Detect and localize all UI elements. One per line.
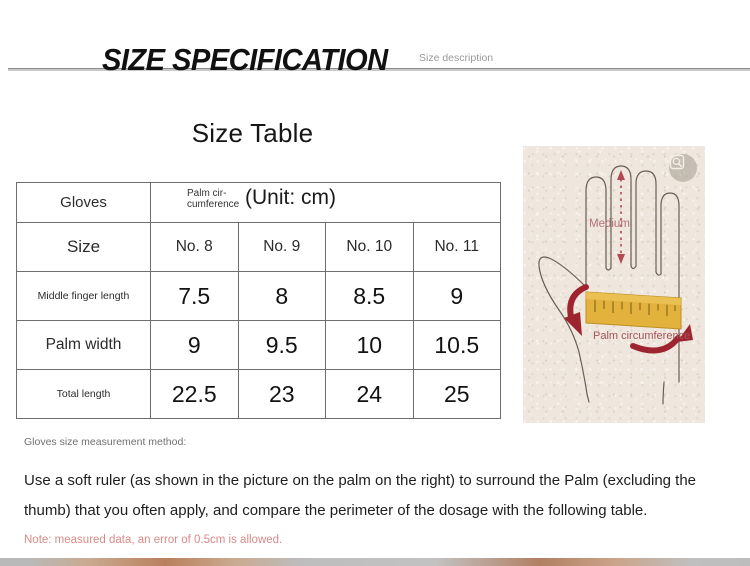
- header-cell-gloves: Gloves: [17, 183, 151, 223]
- cell-palm-width-11: 10.5: [413, 321, 501, 370]
- magnifier-glyph: [669, 154, 685, 170]
- banner-title: SIZE SPECIFICATION: [102, 44, 388, 75]
- cell-palm-width-10: 10: [326, 321, 414, 370]
- cell-middle-finger-8: 7.5: [151, 272, 239, 321]
- cell-size-11: No. 11: [413, 223, 501, 272]
- table-header-row: Gloves Palm cir-cumference (Unit: cm): [17, 183, 501, 223]
- magnifier-icon[interactable]: [669, 154, 697, 182]
- cell-middle-finger-11: 9: [413, 272, 501, 321]
- measurement-method-heading: Gloves size measurement method:: [24, 436, 254, 449]
- measurement-instructions: Use a soft ruler (as shown in the pictur…: [24, 466, 724, 526]
- palm-circumference-figure-label: Palm circumference: [593, 330, 690, 342]
- arrow-down-head: [617, 254, 625, 264]
- table-row: Size No. 8 No. 9 No. 10 No. 11: [17, 223, 501, 272]
- cell-middle-finger-9: 8: [238, 272, 326, 321]
- next-image-strip: [0, 558, 750, 566]
- hand-measurement-illustration[interactable]: Medium Palm circumference: [523, 146, 705, 423]
- cell-total-length-8: 22.5: [151, 370, 239, 419]
- arrow-up-head: [617, 170, 625, 180]
- cell-total-length-10: 24: [326, 370, 414, 419]
- table-row: Total length 22.5 23 24 25: [17, 370, 501, 419]
- unit-note-label: (Unit: cm): [245, 186, 336, 210]
- arrow-left-head: [564, 312, 582, 336]
- tolerance-note: Note: measured data, an error of 0.5cm i…: [24, 534, 282, 546]
- page-banner: Size description SIZE SPECIFICATION: [0, 22, 750, 70]
- hand-diagram-svg: Medium Palm circumference: [523, 146, 705, 423]
- cell-size-8: No. 8: [151, 223, 239, 272]
- header-cell-palm-circumference: Palm cir-cumference (Unit: cm): [151, 183, 501, 223]
- row-label-middle-finger-length: Middle finger length: [17, 272, 151, 321]
- row-label-total-length: Total length: [17, 370, 151, 419]
- cell-size-9: No. 9: [238, 223, 326, 272]
- cell-total-length-11: 25: [413, 370, 501, 419]
- row-label-palm-width: Palm width: [17, 321, 151, 370]
- page-title: Size Table: [0, 118, 505, 149]
- ruler-band: [586, 292, 681, 329]
- size-table: Gloves Palm cir-cumference (Unit: cm) Si…: [16, 182, 501, 419]
- cell-size-10: No. 10: [326, 223, 414, 272]
- table-row: Middle finger length 7.5 8 8.5 9: [17, 272, 501, 321]
- cell-palm-width-8: 9: [151, 321, 239, 370]
- banner-subtitle: Size description: [419, 52, 493, 64]
- row-label-size: Size: [17, 223, 151, 272]
- cell-palm-width-9: 9.5: [238, 321, 326, 370]
- table-row: Palm width 9 9.5 10 10.5: [17, 321, 501, 370]
- medium-label: Medium: [589, 218, 630, 230]
- cell-total-length-9: 23: [238, 370, 326, 419]
- cell-middle-finger-10: 8.5: [326, 272, 414, 321]
